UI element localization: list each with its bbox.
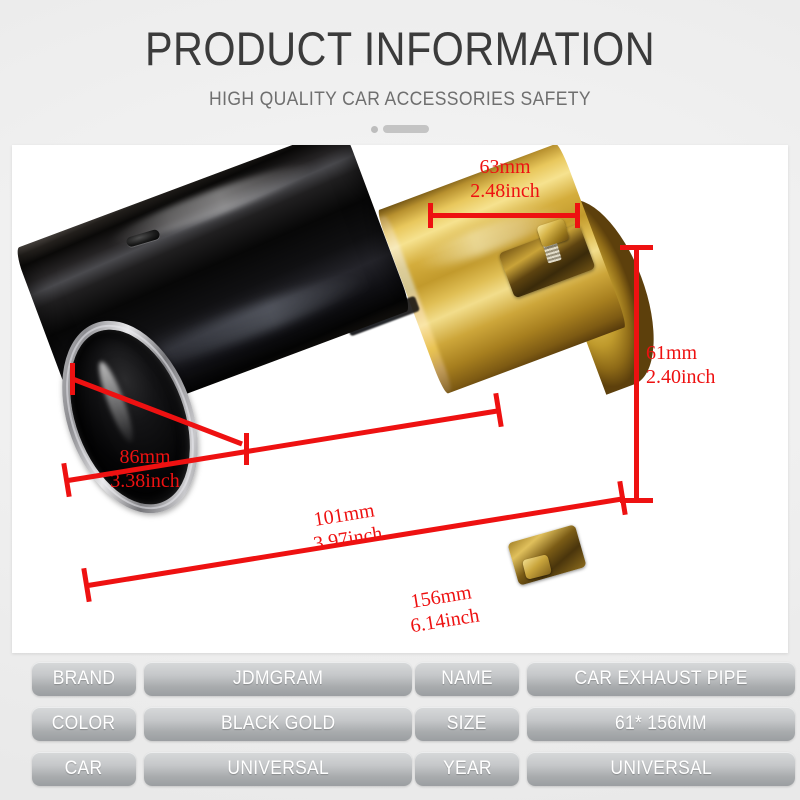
carousel-dot-icon[interactable] [371, 126, 378, 133]
dimension-inch-outlet-height: 2.40inch [646, 365, 766, 389]
spec-key-year: YEAR [415, 752, 519, 786]
spec-key-size: SIZE [415, 707, 519, 741]
spec-value-brand: JDMGRAM [144, 662, 412, 696]
spec-key-name: NAME [415, 662, 519, 696]
spec-row-color: COLOR BLACK GOLD [32, 707, 412, 741]
dimension-cap-outlet-height-start [620, 245, 653, 250]
dimension-mm-outlet-height: 61mm [646, 341, 766, 365]
dimension-mm-outlet-width: 63mm [410, 155, 600, 179]
spec-value-size: 61* 156MM [527, 707, 795, 741]
specification-table: BRAND JDMGRAM COLOR BLACK GOLD CAR UNIVE… [0, 662, 800, 800]
spec-row-size: SIZE 61* 156MM [415, 707, 795, 741]
spec-key-brand: BRAND [32, 662, 136, 696]
spec-column-left: BRAND JDMGRAM COLOR BLACK GOLD CAR UNIVE… [32, 662, 412, 797]
dimension-cap-outlet-width-start [428, 203, 433, 228]
carousel-indicator[interactable] [0, 122, 800, 136]
dimension-label-outlet-height: 61mm 2.40inch [646, 341, 766, 389]
dimension-inch-tip-diameter: 3.38inch [70, 469, 220, 493]
dimension-cap-outlet-width-end [575, 203, 580, 228]
product-image-panel: 63mm 2.48inch 61mm 2.40inch 86mm 3.38inc… [12, 145, 788, 653]
product-information-page: PRODUCT INFORMATION HIGH QUALITY CAR ACC… [0, 0, 800, 800]
spec-row-brand: BRAND JDMGRAM [32, 662, 412, 696]
spec-key-color: COLOR [32, 707, 136, 741]
dimension-line-outlet-height [634, 245, 639, 503]
dimension-line-outlet-width [428, 213, 580, 218]
dimension-cap-tip-diameter-start [70, 363, 75, 395]
carousel-active-bar-icon[interactable] [383, 125, 429, 133]
spec-key-car: CAR [32, 752, 136, 786]
spec-value-color: BLACK GOLD [144, 707, 412, 741]
page-header: PRODUCT INFORMATION HIGH QUALITY CAR ACC… [0, 0, 800, 145]
spec-row-car: CAR UNIVERSAL [32, 752, 412, 786]
spec-value-year: UNIVERSAL [527, 752, 795, 786]
dimension-label-total-length: 156mm 6.14inch [345, 570, 540, 648]
spec-value-name: CAR EXHAUST PIPE [527, 662, 795, 696]
page-subtitle: HIGH QUALITY CAR ACCESSORIES SAFETY [40, 88, 760, 111]
spec-row-name: NAME CAR EXHAUST PIPE [415, 662, 795, 696]
spec-column-right: NAME CAR EXHAUST PIPE SIZE 61* 156MM YEA… [415, 662, 795, 797]
spec-value-car: UNIVERSAL [144, 752, 412, 786]
page-title: PRODUCT INFORMATION [48, 22, 752, 76]
dimension-inch-outlet-width: 2.48inch [410, 179, 600, 203]
dimension-label-outlet-width: 63mm 2.48inch [410, 155, 600, 203]
spec-row-year: YEAR UNIVERSAL [415, 752, 795, 786]
product-photo: 63mm 2.48inch 61mm 2.40inch 86mm 3.38inc… [12, 145, 788, 653]
